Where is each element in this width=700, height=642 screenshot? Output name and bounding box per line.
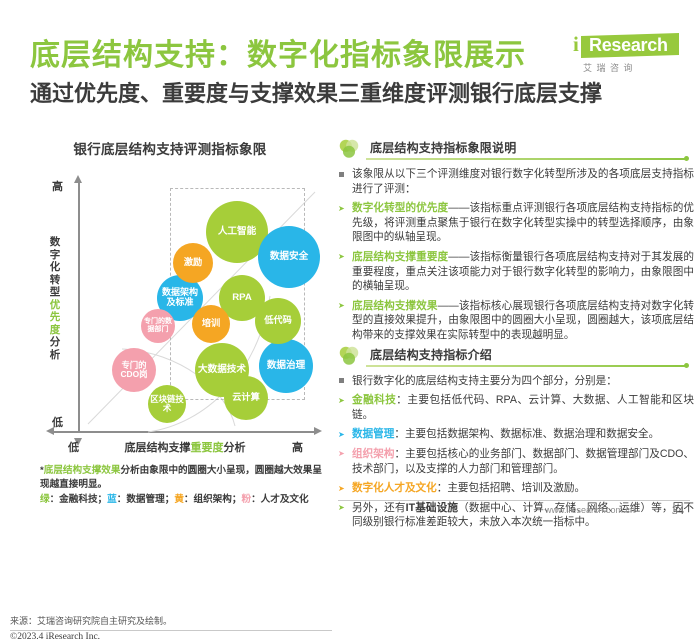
section-rule [366, 158, 688, 160]
chart-footnote: *底层结构支撑效果分析由象限中的圆圈大小呈现，圆圈越大效果呈现越直接明显。 绿：… [40, 464, 330, 507]
chart-legend: 绿：金融科技；蓝：数据管理；黄：组织架构；粉：人才及文化 [40, 493, 330, 507]
bubble-label: 数据安全 [268, 252, 310, 262]
explanation-item: 数字化转型的优先度——该指标重点评测银行各项底层结构支持指标的优先级，将评测重点… [338, 201, 694, 245]
chart-panel: 银行底层结构支持评测指标象限 高 低 低 高 数字化转型优先度分析 底层结构支撑… [0, 126, 340, 525]
explanation-item: 银行数字化的底层结构支持主要分为四个部分，分别是： [338, 374, 694, 389]
item-keyword: 金融科技 [352, 394, 396, 406]
footnote-keyword: 底层结构支撑效果 [44, 465, 121, 476]
bubble-point[interactable]: 数据治理 [259, 339, 313, 393]
explanation-item: 数字化人才及文化：主要包括招聘、培训及激励。 [338, 481, 694, 496]
bubble-label: 数据治理 [265, 361, 307, 371]
bubble-label: 专门的CDO岗 [112, 361, 156, 379]
section-rule [366, 365, 688, 367]
chart-title: 银行底层结构支持评测指标象限 [0, 138, 340, 158]
legend-swatch-label: 绿 [40, 494, 50, 505]
legend-swatch-label: 粉 [241, 494, 251, 505]
section-title: 底层结构支持指标象限说明 [370, 139, 516, 156]
item-body: 该象限从以下三个评测维度对银行数字化转型所涉及的各项底层支持指标进行了评测： [352, 168, 694, 195]
explanation-item: 数据管理：主要包括数据架构、数据标准、数据治理和数据安全。 [338, 427, 694, 442]
venn-circles-icon [338, 345, 360, 367]
section-header: 底层结构支持指标介绍 [338, 343, 694, 369]
item-keyword: 数字化人才及文化 [352, 482, 437, 494]
page-title: 底层结构支持：数字化指标象限展示 [30, 30, 526, 74]
item-prefix: 另外，还有 [352, 502, 406, 514]
item-keyword: 组织架构 [352, 448, 394, 460]
bubble-point[interactable]: 专门的数据部门 [141, 309, 175, 343]
bubble-point[interactable]: 培训 [192, 305, 230, 343]
bubble-label: 大数据技术 [196, 365, 248, 375]
bubble-point[interactable]: 云计算 [224, 376, 268, 420]
explanation-item: 金融科技：主要包括低代码、RPA、云计算、大数据、人工智能和区块链。 [338, 393, 694, 422]
page-subtitle: 通过优先度、重要度与支撑效果三重维度评测银行底层支撑 [30, 76, 602, 108]
copyright-note: ©2023.4 iResearch Inc. [10, 632, 100, 642]
section-title: 底层结构支持指标介绍 [370, 346, 492, 363]
iresearch-logo: i Research 艾瑞咨询 [567, 33, 679, 79]
bubble-label: 培训 [200, 319, 222, 329]
bubble-label: 激励 [182, 258, 204, 268]
bubble-label: 区块链技术 [148, 395, 186, 413]
bubble-label: 专门的数据部门 [141, 318, 175, 333]
source-note: 来源：艾瑞咨询研究院自主研究及绘制。 [10, 614, 332, 631]
legend-swatch-label: 蓝 [107, 494, 117, 505]
legend-item-label: ：组织架构； [184, 494, 242, 505]
bubble-label: 数据架构及标准 [157, 288, 203, 307]
explanation-item: 组织架构：主要包括核心的业务部门、数据部门、数据管理部门及CDO、技术部门，以及… [338, 447, 694, 476]
item-body: 银行数字化的底层结构支持主要分为四个部分，分别是： [352, 375, 617, 387]
item-keyword: 底层结构支撑重要度 [352, 251, 448, 263]
legend-item-label: ：人才及文化 [251, 494, 309, 505]
item-body: ：主要包括数据架构、数据标准、数据治理和数据安全。 [394, 428, 659, 440]
footer-url: www.iresearch.com.cn [545, 505, 635, 515]
footer-divider [338, 500, 690, 501]
item-keyword: IT基础设施 [406, 502, 458, 514]
bubble-label: RPA [230, 293, 254, 303]
bubble-label: 低代码 [262, 316, 294, 326]
explanation-item: 底层结构支撑效果——该指标核心展现银行各项底层结构支持对数字化转型的直接效果提升… [338, 299, 694, 343]
legend-item-label: ：金融科技； [50, 494, 108, 505]
footnote-size-note: *底层结构支撑效果分析由象限中的圆圈大小呈现，圆圈越大效果呈现越直接明显。 [40, 464, 330, 491]
explanation-item: 另外，还有IT基础设施（数据中心、计算、存储、网络、运维）等，因不同级别银行标准… [338, 501, 694, 530]
bubble-label: 人工智能 [216, 227, 258, 237]
bubble-point[interactable]: 数据安全 [258, 226, 320, 288]
slide-header: 底层结构支持：数字化指标象限展示 通过优先度、重要度与支撑效果三重维度评测银行底… [0, 0, 700, 120]
item-keyword: 数字化转型的优先度 [352, 202, 448, 214]
bubble-label: 云计算 [230, 393, 262, 403]
bubble-point[interactable]: 专门的CDO岗 [112, 348, 156, 392]
item-keyword: 数据管理 [352, 428, 394, 440]
item-body: ：主要包括低代码、RPA、云计算、大数据、人工智能和区块链。 [352, 394, 694, 421]
page-number: 34 [672, 503, 684, 518]
item-body: ：主要包括核心的业务部门、数据部门、数据管理部门及CDO、技术部门，以及支撑的人… [352, 448, 694, 475]
logo-chinese-name: 艾瑞咨询 [583, 61, 637, 74]
item-body: ：主要包括招聘、培训及激励。 [437, 482, 585, 494]
bubble-point[interactable]: 激励 [173, 243, 213, 283]
item-keyword: 底层结构支撑效果 [352, 300, 438, 312]
bubble-point[interactable]: 区块链技术 [148, 385, 186, 423]
explanation-item: 底层结构支撑重要度——该指标衡量银行各项底层结构支持对于其发展的重要程度，重点关… [338, 250, 694, 294]
bubble-point[interactable]: 低代码 [255, 298, 301, 344]
bubble-chart-plot: 高 低 低 高 数字化转型优先度分析 底层结构支撑重要度分析 人工智能数据安全激… [30, 174, 330, 459]
venn-circles-icon [338, 138, 360, 160]
legend-swatch-label: 黄 [174, 494, 184, 505]
logo-i-mark: i [573, 34, 579, 55]
section-header: 底层结构支持指标象限说明 [338, 136, 694, 162]
logo-wordmark: Research [589, 36, 668, 55]
legend-item-label: ：数据管理； [117, 494, 175, 505]
explanation-panel: 底层结构支持指标象限说明该象限从以下三个评测维度对银行数字化转型所涉及的各项底层… [338, 136, 694, 496]
explanation-item: 该象限从以下三个评测维度对银行数字化转型所涉及的各项底层支持指标进行了评测： [338, 167, 694, 196]
